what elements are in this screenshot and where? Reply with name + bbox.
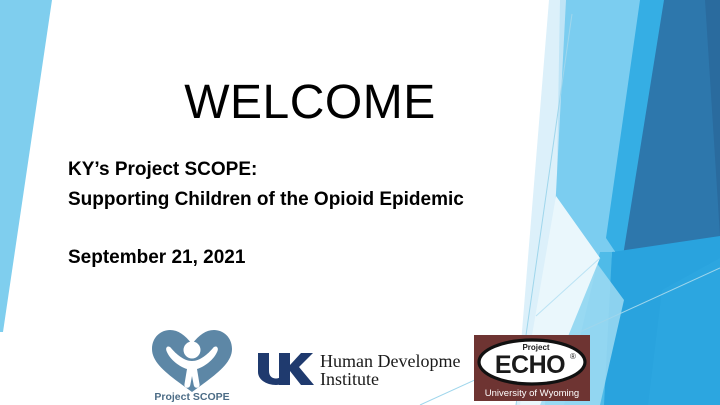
- uk-monogram-icon: [258, 353, 314, 385]
- hdi-line-2: Institute: [320, 369, 379, 389]
- project-scope-caption: Project SCOPE: [154, 391, 229, 402]
- hdi-line-1: Human Development: [320, 351, 460, 371]
- subtitle-line-1: KY’s Project SCOPE:: [68, 155, 628, 185]
- echo-wordmark: ECHO: [495, 351, 565, 379]
- page-title: WELCOME: [0, 78, 620, 128]
- slide-canvas: WELCOME KY’s Project SCOPE: Supporting C…: [0, 0, 720, 405]
- project-echo-logo: Project ECHO ® University of Wyoming: [474, 335, 590, 401]
- subtitle-line-2: Supporting Children of the Opioid Epidem…: [68, 185, 628, 215]
- left-blue-wedge: [0, 0, 52, 332]
- subtitle-spacer: [68, 215, 628, 243]
- event-date: September 21, 2021: [68, 243, 628, 273]
- logo-strip: Project SCOPE Human Development Institut…: [0, 322, 620, 405]
- uk-hdi-logo: Human Development Institute: [256, 348, 460, 390]
- subtitle-block: KY’s Project SCOPE: Supporting Children …: [68, 155, 628, 273]
- project-scope-logo: Project SCOPE: [140, 324, 244, 402]
- echo-footer: University of Wyoming: [485, 388, 579, 399]
- figure-head-icon: [184, 342, 201, 359]
- echo-registered-mark: ®: [570, 352, 576, 361]
